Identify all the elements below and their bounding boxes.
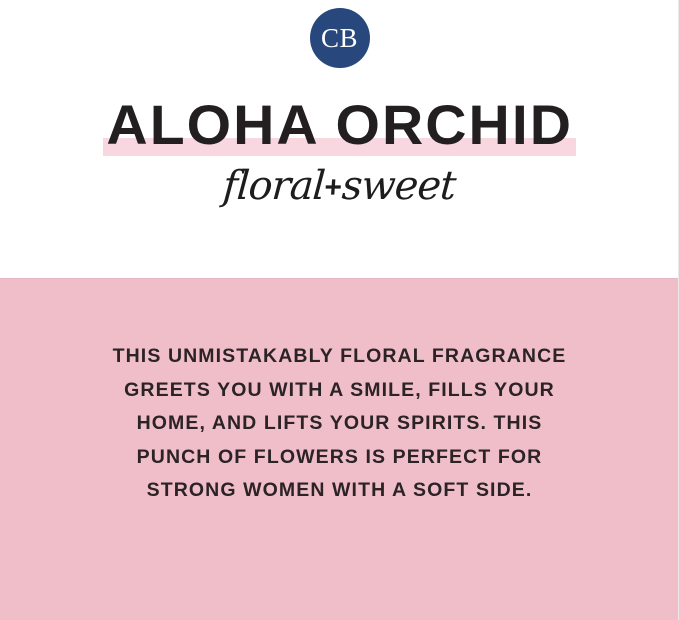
product-title-inner: ALOHA ORCHID: [111, 96, 568, 154]
header-panel: CB ALOHA ORCHID floral+sweet: [0, 0, 679, 278]
scent-notes-block: floral+sweet: [0, 160, 679, 214]
description-line: GREETS YOU WITH A SMILE, FILLS YOUR: [0, 374, 679, 408]
description-panel: THIS UNMISTAKABLY FLORAL FRAGRANCE GREET…: [0, 278, 679, 620]
description-line: PUNCH OF FLOWERS IS PERFECT FOR: [0, 441, 679, 475]
product-title: ALOHA ORCHID: [106, 96, 573, 154]
brand-logo-circle-icon: CB: [310, 8, 370, 68]
scent-note-first: floral: [222, 163, 327, 209]
product-description-text: THIS UNMISTAKABLY FLORAL FRAGRANCE GREET…: [0, 340, 679, 508]
product-title-block: ALOHA ORCHID: [0, 96, 679, 154]
brand-logo-wrapper: CB: [0, 8, 679, 73]
panel-divider: [0, 278, 679, 279]
product-description-card: CB ALOHA ORCHID floral+sweet THIS UNMIST…: [0, 0, 679, 620]
scent-note-second: sweet: [341, 163, 457, 209]
scent-notes-script: floral+sweet: [222, 160, 458, 214]
description-line: THIS UNMISTAKABLY FLORAL FRAGRANCE: [0, 340, 679, 374]
description-line: STRONG WOMEN WITH A SOFT SIDE.: [0, 474, 679, 508]
description-line: HOME, AND LIFTS YOUR SPIRITS. THIS: [0, 407, 679, 441]
brand-monogram-text: CB: [310, 8, 370, 68]
